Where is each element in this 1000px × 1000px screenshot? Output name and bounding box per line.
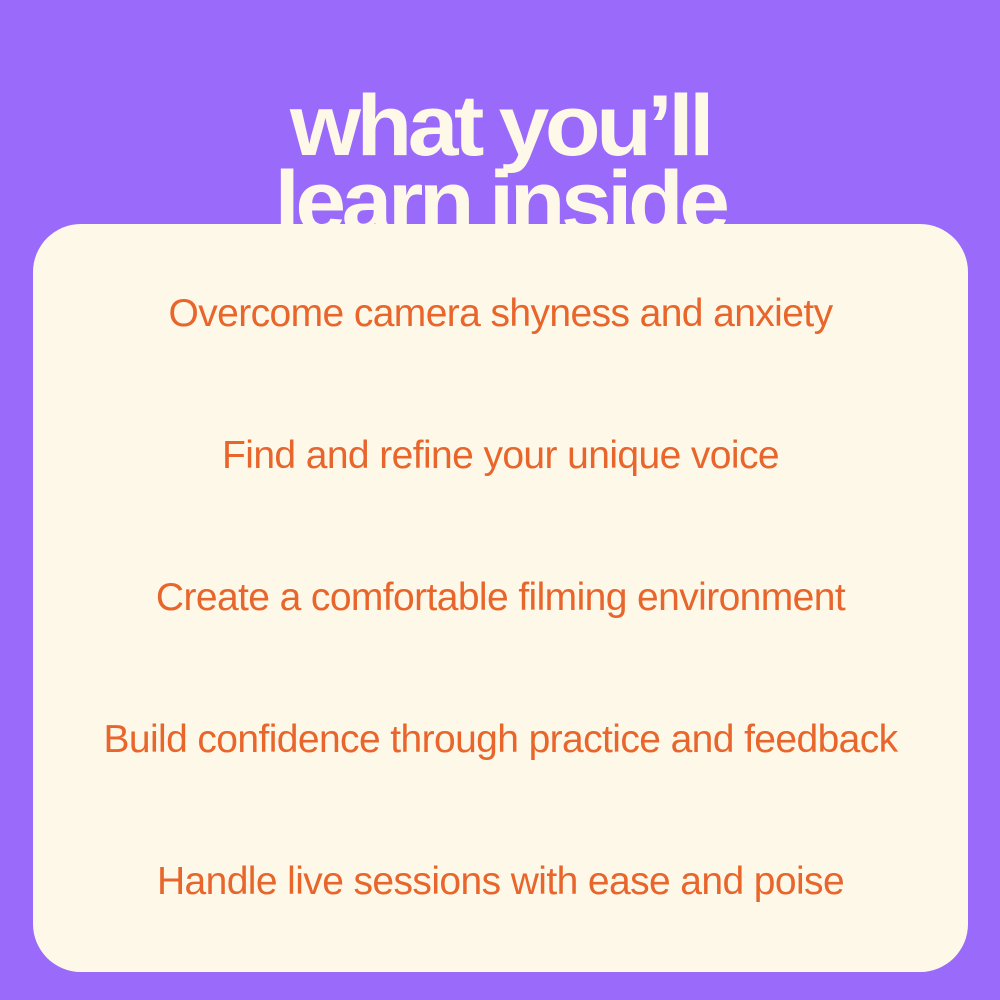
- page-title: what you’ll learn inside: [0, 90, 1000, 240]
- benefits-list: Overcome camera shyness and anxiety Find…: [33, 243, 968, 953]
- list-item: Create a comfortable filming environment: [33, 527, 968, 669]
- list-item-label: Handle live sessions with ease and poise: [157, 861, 844, 904]
- poster-canvas: what you’ll learn inside Overcome camera…: [0, 0, 1000, 1000]
- list-item-label: Build confidence through practice and fe…: [103, 719, 897, 762]
- page-title-line-1: what you’ll: [0, 90, 1000, 164]
- list-item: Handle live sessions with ease and poise: [33, 811, 968, 953]
- list-item: Build confidence through practice and fe…: [33, 669, 968, 811]
- list-item-label: Find and refine your unique voice: [222, 435, 779, 478]
- list-item-label: Overcome camera shyness and anxiety: [169, 293, 833, 336]
- list-item: Overcome camera shyness and anxiety: [33, 243, 968, 385]
- list-item: Find and refine your unique voice: [33, 385, 968, 527]
- list-item-label: Create a comfortable filming environment: [156, 577, 845, 620]
- benefits-card: Overcome camera shyness and anxiety Find…: [33, 224, 968, 972]
